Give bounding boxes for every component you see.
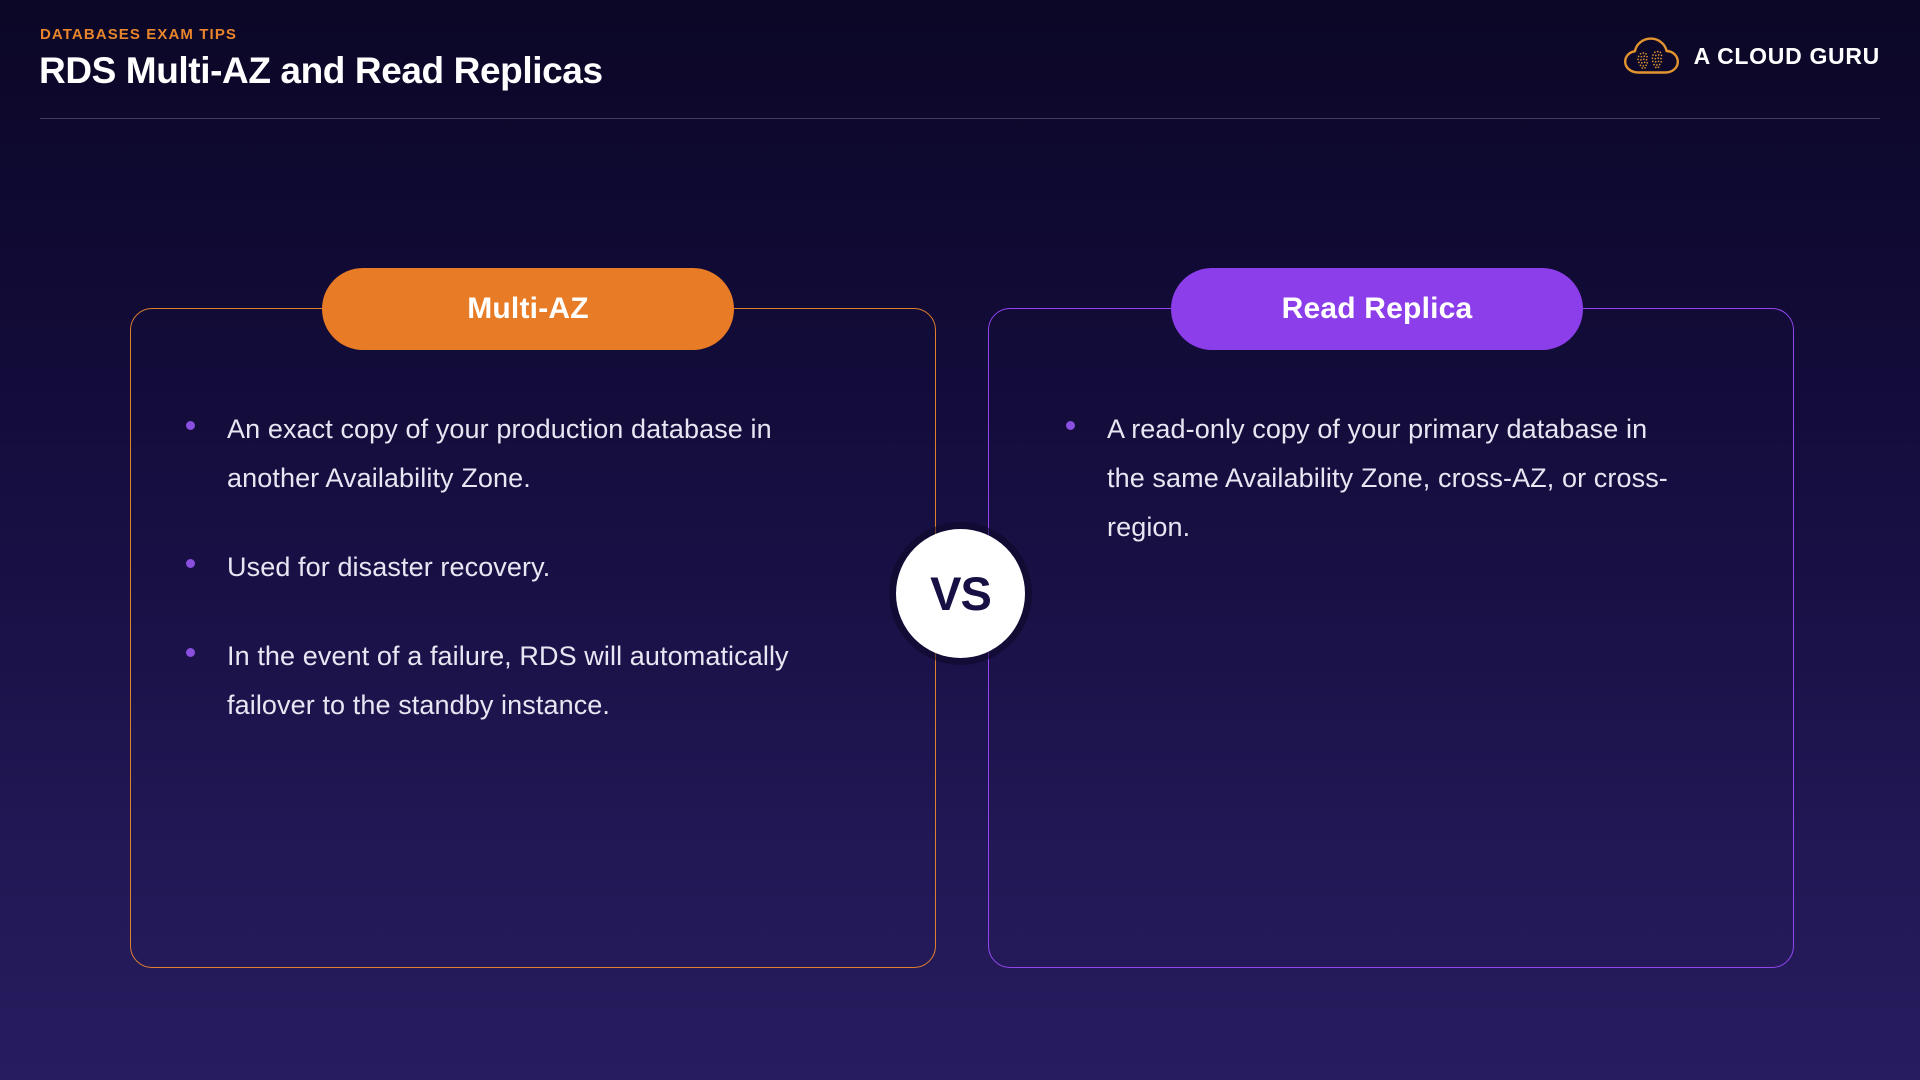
- card-title-pill-multi-az: Multi-AZ: [322, 268, 734, 350]
- slide-header: DATABASES EXAM TIPS RDS Multi-AZ and Rea…: [0, 0, 1920, 120]
- page-title: RDS Multi-AZ and Read Replicas: [39, 50, 603, 92]
- list-item-text: An exact copy of your production databas…: [227, 405, 806, 503]
- versus-label: VS: [930, 566, 991, 621]
- bullet-dot-icon: [1066, 421, 1075, 430]
- header-divider: [40, 118, 1880, 119]
- list-item: A read-only copy of your primary databas…: [1066, 405, 1686, 552]
- versus-badge: VS: [896, 529, 1025, 658]
- slide-eyebrow-label: DATABASES EXAM TIPS: [40, 26, 237, 43]
- bullet-dot-icon: [186, 421, 195, 430]
- list-item-text: In the event of a failure, RDS will auto…: [227, 632, 806, 730]
- brand-lockup: A CLOUD GURU: [1623, 36, 1880, 76]
- bullet-list-read-replica: A read-only copy of your primary databas…: [1066, 405, 1686, 592]
- list-item-text: Used for disaster recovery.: [227, 543, 550, 592]
- bullet-dot-icon: [186, 648, 195, 657]
- bullet-list-multi-az: An exact copy of your production databas…: [186, 405, 806, 770]
- brand-name-label: A CLOUD GURU: [1694, 43, 1880, 70]
- cloud-outline-icon: [1623, 36, 1681, 76]
- card-title-pill-read-replica: Read Replica: [1171, 268, 1583, 350]
- list-item: Used for disaster recovery.: [186, 543, 806, 592]
- list-item-text: A read-only copy of your primary databas…: [1107, 405, 1686, 552]
- bullet-dot-icon: [186, 559, 195, 568]
- list-item: In the event of a failure, RDS will auto…: [186, 632, 806, 730]
- list-item: An exact copy of your production databas…: [186, 405, 806, 503]
